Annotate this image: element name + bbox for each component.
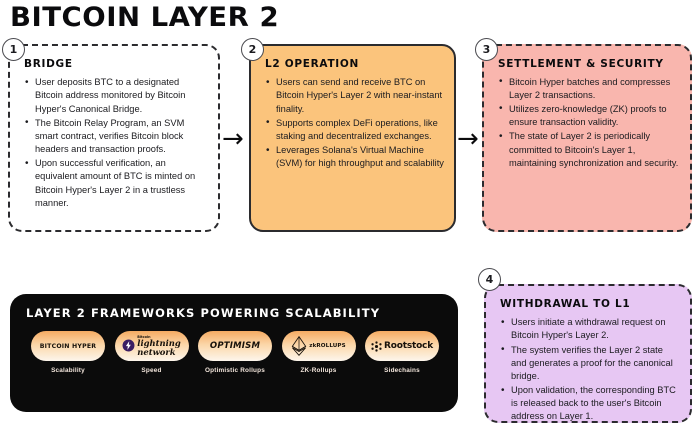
step-badge-3: 3	[475, 38, 498, 61]
ethereum-diamond-icon	[291, 336, 307, 356]
arrow-right-icon-2: →	[457, 126, 479, 152]
lightning-network-logo-text: Bitcoin lightningnetwork	[137, 336, 180, 356]
page-title: BITCOIN LAYER 2	[10, 2, 279, 33]
framework-item-lightning-network[interactable]: Bitcoin lightningnetwork Speed	[112, 331, 192, 374]
list-item: Users initiate a withdrawal request on B…	[500, 316, 680, 342]
framework-item-rootstock[interactable]: Rootstock Sidechains	[362, 331, 442, 374]
step-bullets-1: User deposits BTC to a designated Bitcoi…	[24, 76, 208, 210]
bitcoin-hyper-logo-text: BITCOIN HYPER	[40, 343, 96, 350]
step-panel-l2-operation: L2 OPERATION Users can send and receive …	[249, 44, 456, 232]
optimism-logo-text: OPTIMISM	[210, 341, 260, 351]
frameworks-row: BITCOIN HYPER Scalability Bitcoin lightn…	[26, 331, 446, 374]
list-item: The Bitcoin Relay Program, an SVM smart …	[24, 117, 208, 157]
step-bullets-3: Bitcoin Hyper batches and compresses Lay…	[498, 76, 680, 170]
frameworks-panel: LAYER 2 FRAMEWORKS POWERING SCALABILITY …	[10, 294, 458, 412]
framework-label: Optimistic Rollups	[205, 367, 265, 374]
step-title-2: L2 OPERATION	[265, 58, 444, 71]
list-item: Bitcoin Hyper batches and compresses Lay…	[498, 76, 680, 102]
step-badge-1: 1	[2, 38, 25, 61]
step-panel-bridge: BRIDGE User deposits BTC to a designated…	[8, 44, 220, 232]
step-title-4: WITHDRAWAL TO L1	[500, 298, 680, 311]
lightning-sup-text: Bitcoin	[137, 336, 180, 339]
logo-pill-optimism: OPTIMISM	[198, 331, 272, 361]
list-item: Upon validation, the corresponding BTC i…	[500, 384, 680, 424]
step-bullets-2: Users can send and receive BTC on Bitcoi…	[265, 76, 444, 170]
list-item: User deposits BTC to a designated Bitcoi…	[24, 76, 208, 116]
rootstock-node-icon	[371, 341, 382, 352]
lightning-bolt-icon	[122, 339, 135, 352]
step-badge-4: 4	[478, 268, 501, 291]
zk-rollups-logo-text: zkROLLUPS	[309, 343, 346, 349]
framework-label: Sidechains	[384, 367, 420, 374]
framework-item-zk-rollups[interactable]: zkROLLUPS ZK-Rollups	[279, 331, 359, 374]
list-item: The system verifies the Layer 2 state an…	[500, 344, 680, 384]
framework-item-optimism[interactable]: OPTIMISM Optimistic Rollups	[195, 331, 275, 374]
step-panel-settlement-security: SETTLEMENT & SECURITY Bitcoin Hyper batc…	[482, 44, 692, 232]
logo-pill-zk-rollups: zkROLLUPS	[282, 331, 356, 361]
list-item: Supports complex DeFi operations, like s…	[265, 117, 444, 143]
arrow-right-icon-1: →	[222, 126, 244, 152]
frameworks-heading: LAYER 2 FRAMEWORKS POWERING SCALABILITY	[26, 306, 446, 320]
logo-pill-bitcoin-hyper: BITCOIN HYPER	[31, 331, 105, 361]
framework-label: Scalability	[51, 367, 85, 374]
framework-label: Speed	[141, 367, 161, 374]
list-item: Users can send and receive BTC on Bitcoi…	[265, 76, 444, 116]
logo-pill-rootstock: Rootstock	[365, 331, 439, 361]
infographic-page: BITCOIN LAYER 2 1 BRIDGE User deposits B…	[0, 0, 700, 430]
step-bullets-4: Users initiate a withdrawal request on B…	[500, 316, 680, 424]
logo-pill-lightning-network: Bitcoin lightningnetwork	[115, 331, 189, 361]
list-item: The state of Layer 2 is periodically com…	[498, 130, 680, 170]
step-title-3: SETTLEMENT & SECURITY	[498, 58, 680, 71]
list-item: Upon successful verification, an equival…	[24, 157, 208, 210]
step-title-1: BRIDGE	[24, 58, 208, 71]
step-badge-2: 2	[241, 38, 264, 61]
step-panel-withdrawal-to-l1: WITHDRAWAL TO L1 Users initiate a withdr…	[484, 284, 692, 423]
list-item: Leverages Solana's Virtual Machine (SVM)…	[265, 144, 444, 170]
rootstock-logo-text: Rootstock	[384, 341, 433, 351]
list-item: Utilizes zero-knowledge (ZK) proofs to e…	[498, 103, 680, 129]
framework-item-bitcoin-hyper[interactable]: BITCOIN HYPER Scalability	[28, 331, 108, 374]
framework-label: ZK-Rollups	[300, 367, 336, 374]
